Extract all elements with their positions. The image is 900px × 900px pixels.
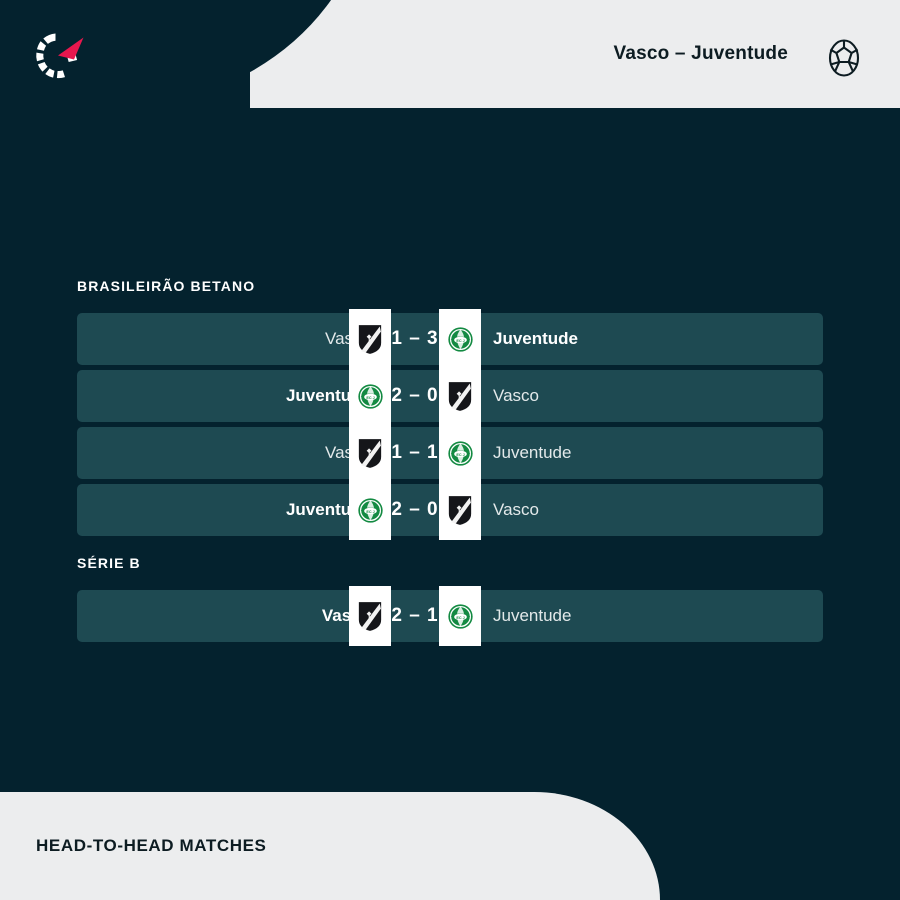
svg-text:EC J: EC J [366, 395, 374, 399]
svg-text:EC J: EC J [456, 338, 464, 342]
away-team-name: Juventude [493, 606, 571, 626]
away-team-name: Juventude [493, 329, 578, 349]
table-row[interactable]: Juventude EC J 2 – 0 [77, 370, 823, 422]
match-score: 2 – 0 [391, 385, 439, 407]
flashscore-logo-icon[interactable] [30, 27, 86, 83]
header-light-panel [250, 0, 900, 108]
table-row[interactable]: Vasco 1 – 3 EC J [77, 313, 823, 365]
juventude-crest-icon: EC J [439, 586, 481, 646]
football-ball-icon [824, 38, 864, 78]
vasco-crest-icon [349, 586, 391, 646]
page-header: Vasco – Juventude [0, 0, 900, 108]
match-score: 1 – 3 [391, 328, 439, 350]
table-row[interactable]: Vasco 2 – 1 EC J [77, 590, 823, 642]
vasco-crest-icon [439, 366, 481, 426]
section-title-serie-b: Série B [77, 555, 141, 571]
vasco-crest-icon [439, 480, 481, 540]
svg-text:EC J: EC J [456, 615, 464, 619]
page-footer: HEAD-TO-HEAD MATCHES [0, 792, 900, 900]
match-score: 1 – 1 [391, 442, 439, 464]
main-content: Brasileirão Betano Vasco 1 – 3 [0, 108, 900, 792]
match-score: 2 – 1 [391, 605, 439, 627]
juventude-crest-icon: EC J [439, 309, 481, 369]
footer-title: HEAD-TO-HEAD MATCHES [36, 792, 266, 900]
page-title: Vasco – Juventude [614, 0, 788, 108]
juventude-crest-icon: EC J [349, 366, 391, 426]
table-row[interactable]: Vasco 1 – 1 EC J [77, 427, 823, 479]
svg-text:EC J: EC J [456, 452, 464, 456]
match-score: 2 – 0 [391, 499, 439, 521]
away-team-name: Vasco [493, 500, 539, 520]
section-title-brasileirao: Brasileirão Betano [77, 278, 255, 294]
away-team-name: Vasco [493, 386, 539, 406]
away-team-name: Juventude [493, 443, 571, 463]
vasco-crest-icon [349, 423, 391, 483]
table-row[interactable]: Juventude EC J 2 – 0 [77, 484, 823, 536]
svg-text:EC J: EC J [366, 509, 374, 513]
juventude-crest-icon: EC J [439, 423, 481, 483]
juventude-crest-icon: EC J [349, 480, 391, 540]
vasco-crest-icon [349, 309, 391, 369]
